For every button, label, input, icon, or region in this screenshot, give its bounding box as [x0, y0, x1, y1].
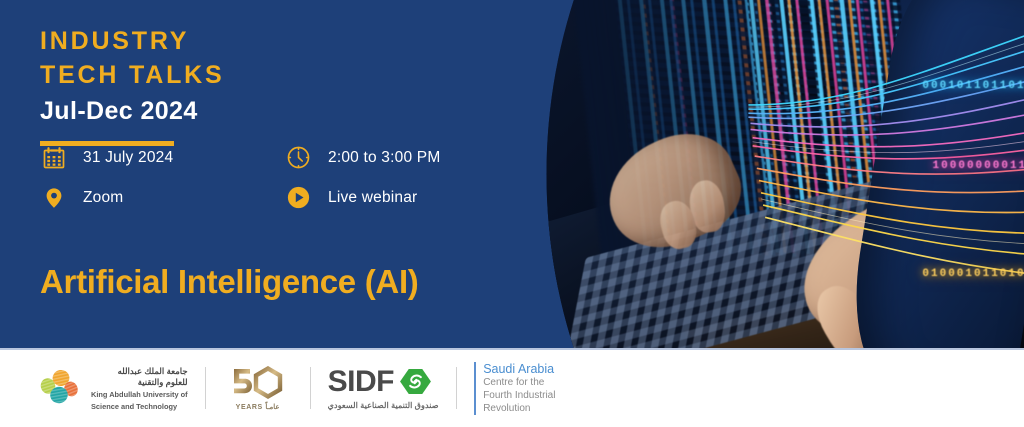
hero-image-clip: 00010110110101 10000000011010 0100010110…	[516, 0, 1024, 348]
event-time: 2:00 to 3:00 PM	[285, 144, 440, 171]
c4ir-line1: Centre for the	[483, 377, 555, 390]
kaust-arabic-line1: جامعة الملك عبدالله	[91, 366, 188, 377]
event-time-label: 2:00 to 3:00 PM	[328, 149, 440, 167]
kaust-arabic-line2: للعلوم والتقنية	[91, 377, 188, 388]
event-date: 31 July 2024	[40, 144, 285, 171]
kaust-english-line1: King Abdullah University of	[91, 390, 188, 400]
sidf-arabic: صندوق التنمية الصناعية السعودي	[328, 400, 439, 410]
logo-divider	[205, 367, 206, 409]
series-period: Jul-Dec 2024	[40, 97, 516, 126]
anniversary-mark	[223, 366, 293, 400]
c4ir-line2: Fourth Industrial	[483, 390, 555, 403]
event-platform-label: Zoom	[83, 189, 123, 207]
binary-stream-top: 00010110110101	[922, 80, 1024, 92]
event-details-row: 31 July 2024 2:00 to 3:00 PM	[40, 144, 480, 171]
anniversary-caption: YEARS عامـاً	[223, 403, 293, 411]
calendar-icon	[40, 144, 67, 171]
page-title: Artificial Intelligence (AI)	[40, 263, 419, 301]
sidf-wordmark: SIDF	[328, 367, 394, 397]
c4ir-accent-bar	[474, 362, 477, 416]
anniversary-logo: YEARS عامـاً	[223, 366, 293, 411]
kaust-logo-mark	[38, 368, 82, 408]
binary-stream-bottom: 010001011010	[922, 268, 1024, 280]
event-platform: Zoom	[40, 184, 285, 211]
play-circle-icon	[285, 184, 312, 211]
c4ir-logo: Saudi Arabia Centre for the Fourth Indus…	[474, 362, 556, 416]
banner-content: INDUSTRY TECH TALKS Jul-Dec 2024	[0, 0, 516, 348]
logo-divider	[310, 367, 311, 409]
hero-image: 00010110110101 10000000011010 0100010110…	[516, 0, 1024, 348]
event-format-label: Live webinar	[328, 189, 417, 207]
location-pin-icon	[40, 184, 67, 211]
event-details: 31 July 2024 2:00 to 3:00 PM	[40, 144, 480, 224]
series-title-line2: TECH TALKS	[40, 61, 516, 90]
kaust-logo: جامعة الملك عبدالله للعلوم والتقنية King…	[38, 366, 188, 412]
event-banner: 00010110110101 10000000011010 0100010110…	[0, 0, 1024, 427]
kaust-english-line2: Science and Technology	[91, 402, 188, 412]
binary-stream-middle: 10000000011010	[933, 160, 1024, 172]
series-title-line1: INDUSTRY	[40, 0, 516, 56]
logo-divider	[456, 367, 457, 409]
kaust-logo-text: جامعة الملك عبدالله للعلوم والتقنية King…	[91, 366, 188, 412]
sidf-logo: SIDF صندوق التنمية الصناعية السعودي	[328, 367, 439, 410]
clock-icon	[285, 144, 312, 171]
c4ir-title: Saudi Arabia	[483, 362, 555, 377]
sidf-logo-mark	[399, 368, 432, 395]
c4ir-line3: Revolution	[483, 403, 555, 416]
event-date-label: 31 July 2024	[83, 149, 173, 167]
event-format: Live webinar	[285, 184, 417, 211]
event-details-row: Zoom Live webinar	[40, 184, 480, 211]
partner-logo-bar: جامعة الملك عبدالله للعلوم والتقنية King…	[0, 348, 1024, 427]
